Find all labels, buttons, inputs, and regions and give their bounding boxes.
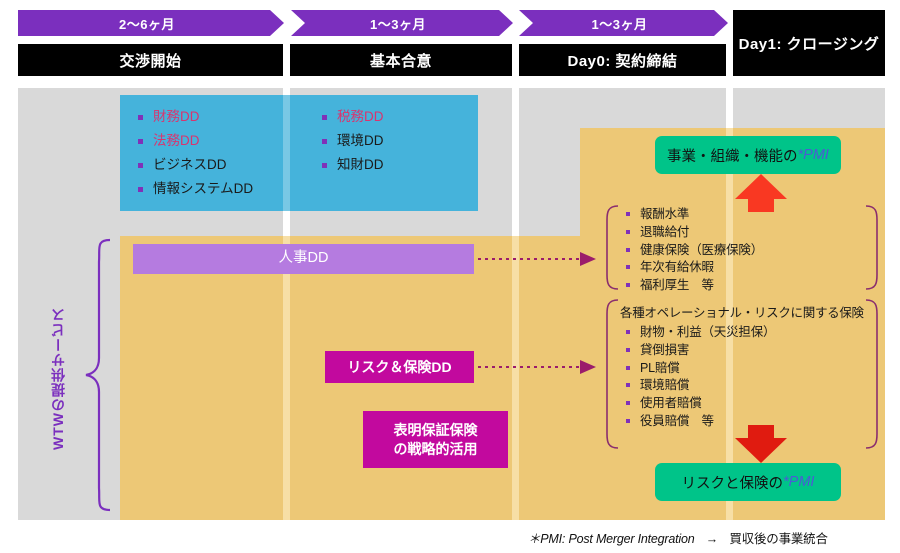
timeline-duration-2: 1〜3ヶ月 xyxy=(291,10,513,36)
timeline-phase-2-label: 基本合意 xyxy=(370,50,432,71)
pmi-risk-insurance: リスクと保険の*PMI xyxy=(655,463,841,501)
timeline-phase-1-label: 交渉開始 xyxy=(119,50,181,71)
list-item: 退職給付 xyxy=(618,225,858,240)
dd-list-1: 財務DD 法務DD ビジネスDD 情報システムDD xyxy=(120,95,283,198)
list-item: 貸倒損害 xyxy=(618,343,868,358)
list-item: 健康保険（医療保険） xyxy=(618,243,858,258)
service-warranty-insurance: 表明保証保険 の戦略的活用 xyxy=(363,411,508,468)
footnote: ＊PMI: Post Merger Integration → 買収後の事業統合 xyxy=(528,528,828,547)
service-region-gap-2 xyxy=(512,236,519,520)
pmi-risk-insurance-label: リスクと保険の xyxy=(682,472,784,493)
timeline-duration-1-label: 2〜6ヶ月 xyxy=(119,14,175,33)
timeline-duration-2-label: 1〜3ヶ月 xyxy=(370,14,426,33)
timeline-duration-3-label: 1〜3ヶ月 xyxy=(592,14,648,33)
timeline-phase-2: 基本合意 xyxy=(290,44,512,76)
pmi-business: 事業・組織・機能の*PMI xyxy=(655,136,841,174)
service-warranty-insurance-label: 表明保証保険 の戦略的活用 xyxy=(394,421,478,459)
hr-benefit-list: 報酬水準 退職給付 健康保険（医療保険） 年次有給休暇 福利厚生 等 xyxy=(618,207,858,296)
dd-box-gap xyxy=(283,95,290,211)
list-item: 福利厚生 等 xyxy=(618,278,858,293)
operational-risk-items: 財物・利益（天災担保） 貸倒損害 PL賠償 環境賠償 使用者賠償 役員賠償 等 xyxy=(618,325,868,429)
pmi-business-mark: *PMI xyxy=(798,147,829,163)
timeline-duration-1: 2〜6ヶ月 xyxy=(18,10,284,36)
list-item: 財物・利益（天災担保） xyxy=(618,325,868,340)
timeline-phase-4-label: Day1: クロージング xyxy=(739,33,880,54)
diagram-canvas: 2〜6ヶ月 1〜3ヶ月 1〜3ヶ月 交渉開始 基本合意 Day0: 契約締結 D… xyxy=(0,0,900,553)
footnote-arrow: → xyxy=(706,532,718,546)
dd-box-phase-1: 財務DD 法務DD ビジネスDD 情報システムDD xyxy=(120,95,283,211)
dd-list-2: 税務DD 環境DD 知財DD xyxy=(290,95,478,174)
operational-risk-list: 各種オペレーショナル・リスクに関する保険 財物・利益（天災担保） 貸倒損害 PL… xyxy=(618,302,868,432)
list-item: 報酬水準 xyxy=(618,207,858,222)
service-region-left xyxy=(120,236,283,520)
list-item: 使用者賠償 xyxy=(618,396,868,411)
pmi-business-label: 事業・組織・機能の xyxy=(667,145,798,166)
hr-benefit-items: 報酬水準 退職給付 健康保険（医療保険） 年次有給休暇 福利厚生 等 xyxy=(618,207,858,293)
dd-item: 環境DD xyxy=(320,133,478,150)
dd-item: 法務DD xyxy=(136,133,283,150)
timeline-phase-3: Day0: 契約締結 xyxy=(519,44,726,76)
dd-item: 税務DD xyxy=(320,109,478,126)
list-item: 役員賠償 等 xyxy=(618,414,868,429)
dd-item: 財務DD xyxy=(136,109,283,126)
timeline-phase-3-label: Day0: 契約締結 xyxy=(567,50,677,71)
timeline-phase-4: Day1: クロージング xyxy=(733,10,885,76)
dd-item: 情報システムDD xyxy=(136,181,283,198)
dd-box-phase-2: 税務DD 環境DD 知財DD xyxy=(290,95,478,211)
footnote-suffix: 買収後の事業統合 xyxy=(729,532,827,546)
list-item: 環境賠償 xyxy=(618,378,868,393)
wtw-services-label: WTWの提供サービス xyxy=(48,300,68,450)
list-item: 年次有給休暇 xyxy=(618,260,858,275)
service-risk-insurance-dd: リスク＆保険DD xyxy=(325,351,474,383)
dd-item: 知財DD xyxy=(320,157,478,174)
service-hr-dd: 人事DD xyxy=(133,244,474,274)
service-risk-insurance-dd-label: リスク＆保険DD xyxy=(347,358,451,377)
timeline-duration-3: 1〜3ヶ月 xyxy=(519,10,728,36)
service-hr-dd-label: 人事DD xyxy=(279,249,329,269)
timeline-phase-1: 交渉開始 xyxy=(18,44,283,76)
service-region-gap-1 xyxy=(283,236,290,520)
dd-item: ビジネスDD xyxy=(136,157,283,174)
list-item: PL賠償 xyxy=(618,361,868,376)
pmi-risk-insurance-mark: *PMI xyxy=(783,474,814,490)
operational-risk-list-header: 各種オペレーショナル・リスクに関する保険 xyxy=(620,302,868,321)
footnote-prefix: ＊PMI: Post Merger Integration xyxy=(528,532,695,546)
